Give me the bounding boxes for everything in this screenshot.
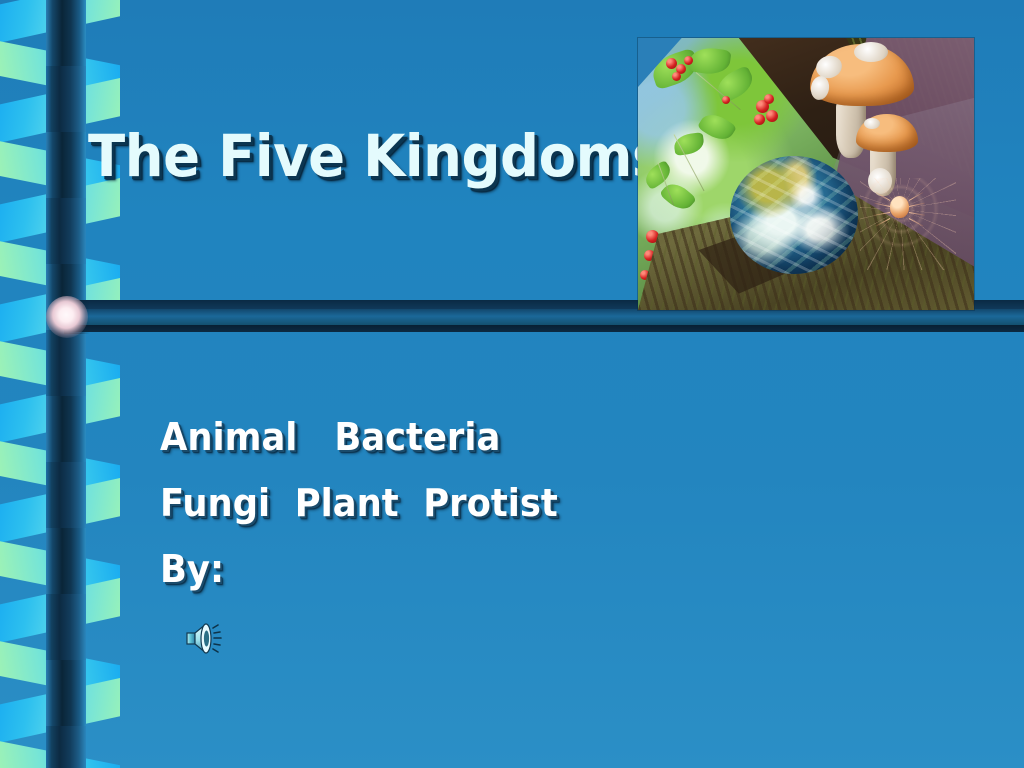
body-line-kingdoms-1: Animal Bacteria <box>160 404 558 470</box>
earth-cloud-swirl <box>730 156 858 274</box>
ribbon-column-segment <box>46 132 86 198</box>
spider-web <box>860 178 956 270</box>
berry <box>722 96 730 104</box>
berry <box>764 94 774 104</box>
body-line-author: By: <box>160 536 558 602</box>
slide-body-text: Animal Bacteria Fungi Plant Protist By: <box>160 404 558 602</box>
earth-globe <box>730 156 858 274</box>
berry <box>672 72 681 81</box>
ribbon-column-segment <box>46 660 86 726</box>
berry <box>766 110 778 122</box>
ribbon-decoration <box>0 0 130 768</box>
divider-body <box>64 309 1024 325</box>
mushroom-cap-patch <box>854 42 888 62</box>
speaker-sound-icon[interactable] <box>182 619 226 659</box>
divider-bottom-edge <box>64 325 1024 332</box>
berry <box>684 56 693 65</box>
spider <box>890 196 909 218</box>
ribbon-column-segment <box>46 528 86 594</box>
glow-dot-accent <box>46 296 88 338</box>
slide-title: The Five Kingdoms <box>88 122 664 190</box>
body-line-kingdoms-2: Fungi Plant Protist <box>160 470 558 536</box>
ribbon-column-segment <box>46 396 86 462</box>
berry <box>754 114 765 125</box>
ribbon-center-column <box>46 0 86 768</box>
speaker-sound-icon-svg <box>182 619 226 659</box>
mushroom-cap-patch <box>864 118 880 129</box>
ribbon-column-segment <box>46 0 86 66</box>
presentation-slide: The Five Kingdoms Animal Bacteria Fungi … <box>0 0 1024 768</box>
nature-collage-image <box>638 38 974 310</box>
